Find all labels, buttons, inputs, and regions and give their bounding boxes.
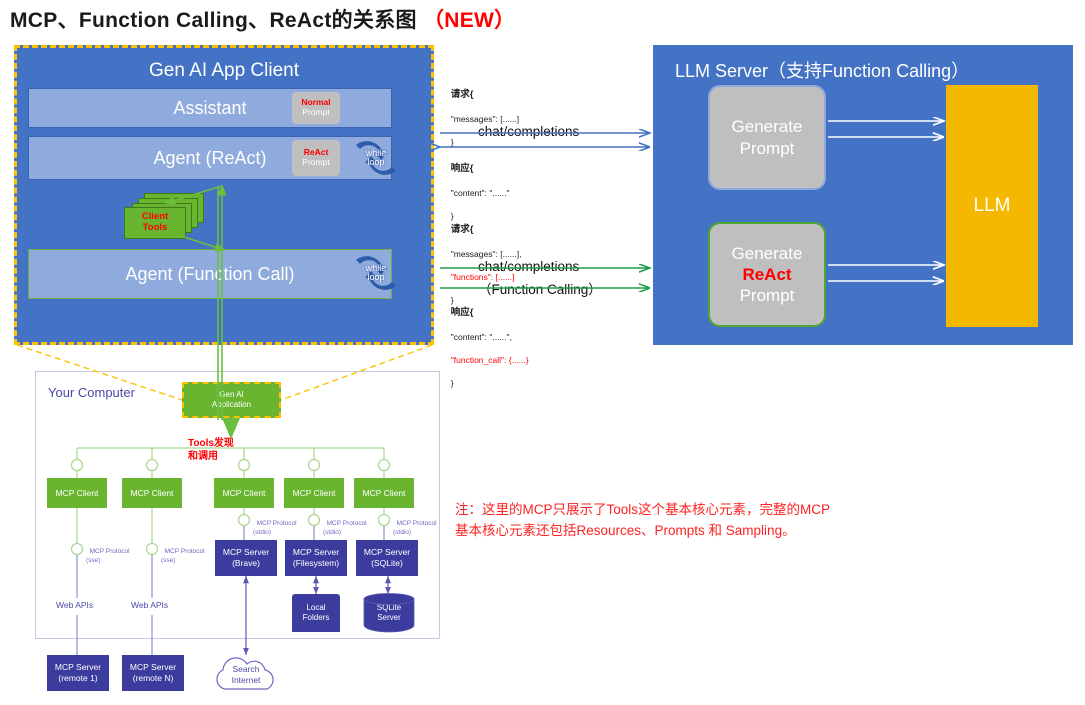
generate-prompt-line1: Generate xyxy=(732,116,803,137)
llm-server-title: LLM Server（支持Function Calling） xyxy=(675,57,969,83)
request-1-line2: "messages": [......] xyxy=(451,114,519,124)
request-2-line2: "messages": [......], xyxy=(451,249,522,259)
tools-note-line2: 和调用 xyxy=(188,451,218,462)
page-title: MCP、Function Calling、ReAct的关系图 （NEW） xyxy=(10,4,515,34)
request-2-line1: 请求{ xyxy=(451,224,474,235)
response-1-line2: "content": "......" xyxy=(451,188,510,198)
mcp-client-2[interactable]: MCP Client xyxy=(122,478,182,508)
page-title-badge: （NEW） xyxy=(423,9,516,32)
llm-box: LLM xyxy=(946,85,1038,327)
response-block-1: 响应{ "content": "......" } xyxy=(446,152,510,222)
mcp-client-5[interactable]: MCP Client xyxy=(354,478,414,508)
response-2-line3: "function_call": {......} xyxy=(451,355,529,365)
sqlite-server-store: SQLiteServer xyxy=(364,594,414,632)
search-internet-cloud: SearchInternet xyxy=(205,653,287,697)
mcp-protocol-caption-3: MCP Protocol(stdio) xyxy=(253,512,297,537)
while-loop-fc-text: whileloop xyxy=(366,264,387,283)
gen-ai-application-line2: Application xyxy=(212,400,251,410)
mcp-server-brave[interactable]: MCP Server(Brave) xyxy=(215,540,277,576)
tools-discovery-note: Tools发现 和调用 xyxy=(188,438,234,463)
response-2-line4: } xyxy=(451,378,454,388)
tools-note-line1: Tools发现 xyxy=(188,438,234,449)
while-loop-react-text: whileloop xyxy=(366,149,387,168)
generate-prompt-box[interactable]: Generate Prompt xyxy=(708,85,826,190)
mcp-server-sqlite[interactable]: MCP Server(SQLite) xyxy=(356,540,418,576)
response-block-2: 响应{ "content": "......", "function_call"… xyxy=(446,296,529,389)
generate-react-line1: Generate xyxy=(732,243,803,264)
mcp-client-4[interactable]: MCP Client xyxy=(284,478,344,508)
gen-ai-application-box[interactable]: Gen AI Application xyxy=(182,382,281,418)
mcp-server-remote-n[interactable]: MCP Server(remote N) xyxy=(122,655,184,691)
local-folders-store: LocalFolders xyxy=(292,594,340,632)
web-apis-label-2: Web APIs xyxy=(131,600,168,610)
mcp-protocol-caption-4: MCP Protocol(stdio) xyxy=(323,512,367,537)
mcp-server-remote-1[interactable]: MCP Server(remote 1) xyxy=(47,655,109,691)
mcp-server-filesystem[interactable]: MCP Server(Filesystem) xyxy=(285,540,347,576)
response-1-line1: 响应{ xyxy=(451,163,474,174)
request-1-line1: 请求{ xyxy=(451,89,474,100)
react-prompt-line2: Prompt xyxy=(302,158,329,168)
request-1-line3: } xyxy=(451,137,454,147)
normal-prompt-chip: Normal Prompt xyxy=(291,91,341,125)
flow-label-function-calling: （Function Calling） xyxy=(478,278,602,298)
flow-label-chat-completions-1: chat/completions xyxy=(478,124,579,139)
mcp-client-3[interactable]: MCP Client xyxy=(214,478,274,508)
client-panel-title: Gen AI App Client xyxy=(17,60,431,82)
gen-ai-application-line1: Gen AI xyxy=(219,390,243,400)
your-computer-label: Your Computer xyxy=(48,385,135,400)
web-apis-label-1: Web APIs xyxy=(56,600,93,610)
flow-label-chat-completions-2: chat/completions xyxy=(478,259,579,274)
generate-react-line2: ReAct xyxy=(742,264,791,285)
response-2-line1: 响应{ xyxy=(451,307,474,318)
footnote-line1: 注：这里的MCP只展示了Tools这个基本核心元素，完整的MCP xyxy=(455,502,830,517)
search-internet-text: SearchInternet xyxy=(232,664,261,686)
react-prompt-chip: ReAct Prompt xyxy=(291,139,341,177)
generate-prompt-line2: Prompt xyxy=(740,138,795,159)
agent-function-call-row[interactable]: Agent (Function Call) xyxy=(28,249,392,299)
mcp-protocol-caption-2: MCP Protocol(sse) xyxy=(161,540,205,565)
generate-react-line3: Prompt xyxy=(740,285,795,306)
normal-prompt-line2: Prompt xyxy=(302,108,329,118)
footnote: 注：这里的MCP只展示了Tools这个基本核心元素，完整的MCP 基本核心元素还… xyxy=(455,500,925,542)
page-title-main: MCP、Function Calling、ReAct的关系图 xyxy=(10,9,417,32)
footnote-line2: 基本核心元素还包括Resources、Prompts 和 Sampling。 xyxy=(455,523,796,538)
agent-function-call-label: Agent (Function Call) xyxy=(29,250,391,298)
mcp-client-1[interactable]: MCP Client xyxy=(47,478,107,508)
while-loop-badge-function-call: whileloop xyxy=(348,252,404,294)
mcp-protocol-caption-1: MCP Protocol(sse) xyxy=(86,540,130,565)
generate-react-prompt-box[interactable]: Generate ReAct Prompt xyxy=(708,222,826,327)
client-tools-label: Client Tools xyxy=(124,207,186,239)
while-loop-badge-react: whileloop xyxy=(348,139,404,177)
response-2-line2: "content": "......", xyxy=(451,332,512,342)
client-tools-stack[interactable]: Client Tools xyxy=(120,193,206,239)
mcp-protocol-caption-5: MCP Protocol(stdio) xyxy=(393,512,437,537)
